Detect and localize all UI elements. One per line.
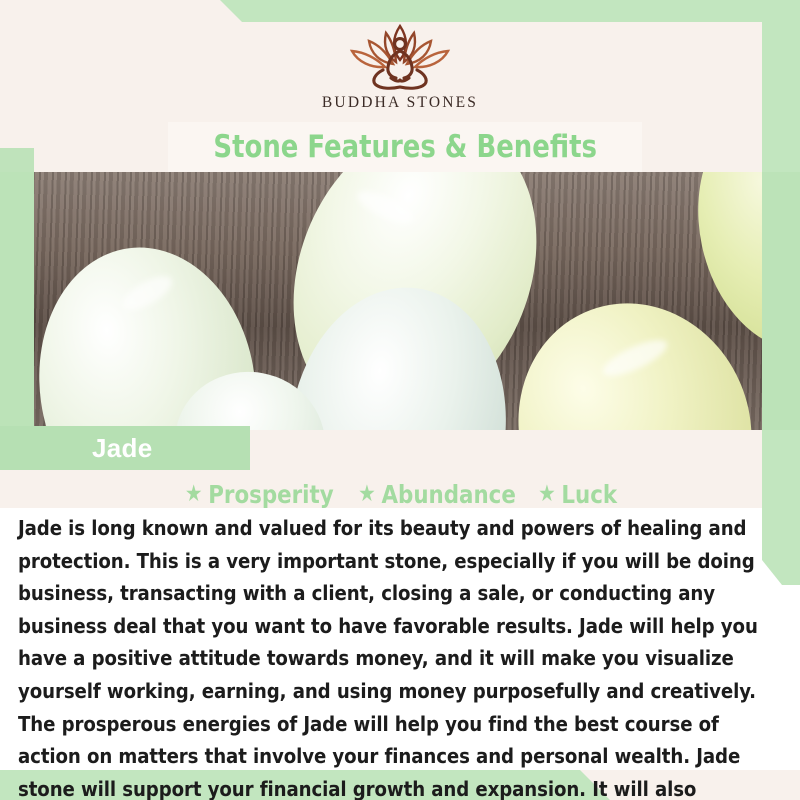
description-text: Jade is long known and valued for its be… <box>18 512 774 800</box>
benefit-item-abundance: ★ Abundance <box>358 480 516 509</box>
benefit-item-prosperity: ★ Prosperity <box>185 480 334 509</box>
star-icon: ★ <box>185 483 203 506</box>
decorative-top-band <box>0 0 800 22</box>
page-title: Stone Features & Benefits <box>213 129 597 165</box>
decorative-left-strip-overlay <box>0 172 34 430</box>
benefit-label: Luck <box>561 480 617 509</box>
lotus-meditation-icon <box>325 20 475 92</box>
infographic-card: BUDDHA STONES Stone Features & Benefits … <box>0 0 800 800</box>
stone-name: Jade <box>92 433 152 464</box>
benefit-label: Abundance <box>381 480 515 509</box>
stone-photo <box>0 172 800 430</box>
brand-logo: BUDDHA STONES <box>0 20 800 120</box>
decorative-right-strip-overlay <box>762 172 800 430</box>
star-icon: ★ <box>358 483 376 506</box>
star-icon: ★ <box>538 483 556 506</box>
brand-name: BUDDHA STONES <box>322 94 478 112</box>
benefit-item-luck: ★ Luck <box>538 480 617 509</box>
benefit-label: Prosperity <box>208 480 333 509</box>
benefits-row: ★ Prosperity ★ Abundance ★ Luck <box>0 478 800 510</box>
title-banner: Stone Features & Benefits <box>168 122 642 172</box>
stone-name-banner: Jade <box>0 426 250 470</box>
